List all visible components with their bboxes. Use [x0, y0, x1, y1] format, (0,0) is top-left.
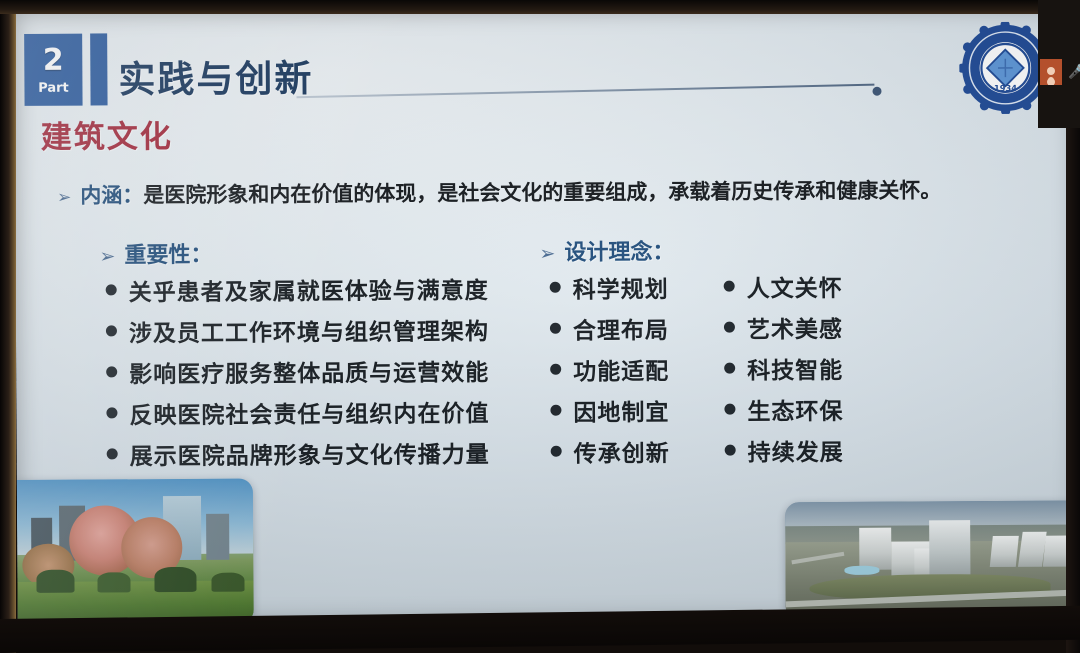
- arrow-bullet-icon: ➢: [539, 245, 555, 264]
- design-label: 设计理念：: [564, 234, 674, 267]
- design-list-column-b: 人文关怀 艺术美感 科技智能 生态环保 持续发展: [724, 265, 844, 471]
- section-title: 实践与创新: [118, 48, 313, 103]
- list-item: 涉及员工工作环境与组织管理架构: [106, 308, 489, 351]
- design-heading-row: ➢ 设计理念：: [539, 234, 674, 267]
- list-item-label: 合理布局: [573, 311, 669, 346]
- intro-label: 内涵：: [80, 179, 143, 209]
- list-item-label: 科学规划: [573, 270, 669, 305]
- list-item: 展示医院品牌形象与文化传播力量: [107, 431, 490, 474]
- list-item: 反映医院社会责任与组织内在价值: [106, 390, 489, 433]
- list-item-label: 持续发展: [748, 432, 844, 467]
- bullet-dot-icon: [550, 405, 561, 416]
- list-item-label: 反映医院社会责任与组织内在价值: [129, 394, 489, 430]
- video-call-overlay: 🎤 ▮: [1038, 0, 1080, 128]
- intro-text: 是医院形象和内在价值的体现，是社会文化的重要组成，承载着历史传承和健康关怀。: [143, 174, 941, 209]
- list-item: 生态环保: [724, 388, 843, 430]
- list-item-label: 功能适配: [573, 352, 669, 387]
- bullet-dot-icon: [106, 366, 117, 377]
- list-item: 影响医疗服务整体品质与运营效能: [106, 349, 489, 392]
- campus-blossom-photo: [17, 479, 254, 625]
- arrow-bullet-icon: ➢: [57, 190, 71, 207]
- list-item-label: 关乎患者及家属就医体验与满意度: [129, 271, 489, 307]
- header-endpoint-dot: [872, 87, 881, 96]
- list-item: 科技智能: [724, 347, 843, 389]
- bullet-dot-icon: [725, 445, 736, 456]
- microphone-icon[interactable]: 🎤: [1068, 65, 1080, 79]
- list-item-label: 影响医疗服务整体品质与运营效能: [129, 353, 489, 389]
- list-item-label: 生态环保: [747, 391, 843, 426]
- bullet-dot-icon: [550, 323, 561, 334]
- list-item-label: 传承创新: [574, 434, 670, 469]
- list-item: 传承创新: [551, 430, 670, 472]
- participant-avatar[interactable]: [1040, 59, 1062, 85]
- list-item: 持续发展: [725, 429, 844, 471]
- header-divider-line: [297, 84, 875, 99]
- hospital-aerial-photo: [785, 501, 1080, 621]
- importance-label: 重要性：: [124, 237, 212, 270]
- bullet-dot-icon: [106, 407, 117, 418]
- slide-header: 2 Part 实践与创新: [14, 20, 1076, 110]
- list-item: 功能适配: [550, 348, 669, 390]
- slide-canvas: 2 Part 实践与创新: [14, 6, 1080, 625]
- list-item: 合理布局: [550, 307, 669, 349]
- screen-left-edge: [0, 0, 16, 653]
- page-title: 建筑文化: [41, 111, 173, 157]
- list-item: 科学规划: [550, 266, 669, 308]
- video-call-toolbar[interactable]: 🎤 ▮: [1040, 58, 1080, 86]
- part-badge: 2 Part: [24, 34, 82, 106]
- part-number: 2: [43, 45, 64, 75]
- list-item-label: 涉及员工工作环境与组织管理架构: [129, 312, 489, 348]
- bullet-dot-icon: [550, 364, 561, 375]
- emblem-year-text: 1934: [994, 83, 1017, 93]
- list-item-label: 展示医院品牌形象与文化传播力量: [130, 435, 490, 471]
- projected-slide-photo: 2 Part 实践与创新: [0, 0, 1080, 653]
- list-item: 人文关怀: [724, 265, 843, 307]
- intro-row: ➢ 内涵： 是医院形象和内在价值的体现，是社会文化的重要组成，承载着历史传承和健…: [57, 174, 941, 209]
- list-item-label: 人文关怀: [747, 268, 843, 303]
- arrow-bullet-icon: ➢: [99, 247, 115, 266]
- importance-list: 关乎患者及家属就医体验与满意度 涉及员工工作环境与组织管理架构 影响医疗服务整体…: [106, 267, 490, 474]
- bullet-dot-icon: [724, 404, 735, 415]
- bullet-dot-icon: [551, 446, 562, 457]
- part-word-label: Part: [38, 81, 69, 94]
- design-list-column-a: 科学规划 合理布局 功能适配 因地制宜 传承创新: [550, 266, 670, 472]
- part-accent-bar: [90, 33, 107, 105]
- screen-top-edge: [0, 0, 1080, 14]
- bullet-dot-icon: [724, 281, 735, 292]
- list-item-label: 因地制宜: [573, 393, 669, 428]
- bullet-dot-icon: [724, 322, 735, 333]
- importance-heading-row: ➢ 重要性：: [99, 237, 212, 270]
- list-item-label: 艺术美感: [747, 309, 843, 344]
- bullet-dot-icon: [107, 448, 118, 459]
- list-item: 因地制宜: [550, 389, 669, 431]
- bullet-dot-icon: [106, 284, 117, 295]
- bullet-dot-icon: [724, 363, 735, 374]
- bullet-dot-icon: [550, 282, 561, 293]
- avatar-person-icon: [1047, 67, 1055, 75]
- list-item: 关乎患者及家属就医体验与满意度: [106, 267, 489, 310]
- list-item: 艺术美感: [724, 306, 843, 348]
- list-item-label: 科技智能: [747, 350, 843, 385]
- bullet-dot-icon: [106, 325, 117, 336]
